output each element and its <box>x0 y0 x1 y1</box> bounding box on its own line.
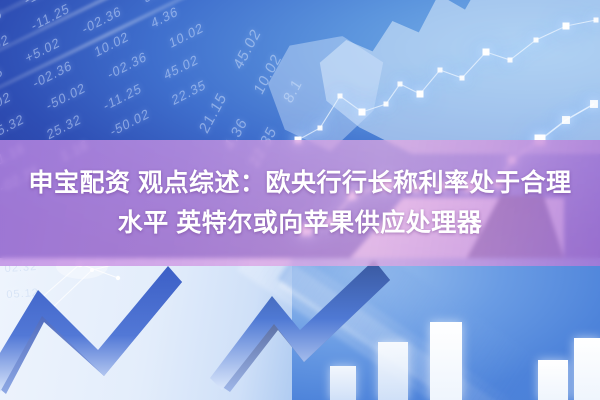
chart-node <box>483 49 490 56</box>
banner-image: -50.02-02.36-11.25+5.0221.15 -02.36-50.0… <box>0 0 600 400</box>
chart-node <box>562 116 570 124</box>
headline-line-1: 申宝配资 观点综述：欧央行行长称利率处于合理 <box>29 163 572 203</box>
bottom-arrow-scene: 02.32 05.12 <box>0 258 600 400</box>
chart-node <box>507 57 512 62</box>
chart-node <box>533 37 538 42</box>
chart-node-group-upper <box>295 17 599 143</box>
chart-node <box>459 75 464 80</box>
chart-line-upper <box>298 20 596 140</box>
headline-line-2: 水平 英特尔或向苹果供应处理器 <box>118 203 482 243</box>
chart-node <box>417 91 424 98</box>
chart-node <box>437 67 442 72</box>
bar-3 <box>430 322 462 400</box>
bar-4 <box>538 360 568 400</box>
bar-5 <box>574 338 600 400</box>
chart-node <box>359 109 366 116</box>
chart-node <box>590 100 598 108</box>
chart-node <box>593 17 598 22</box>
chart-node <box>383 101 388 106</box>
chart-node <box>397 81 402 86</box>
bar-1 <box>330 366 356 400</box>
headline-overlay-band: 申宝配资 观点综述：欧央行行长称利率处于合理 水平 英特尔或向苹果供应处理器 <box>0 140 600 266</box>
chart-node <box>317 125 322 130</box>
bar-2 <box>378 342 408 400</box>
chart-node <box>563 23 570 30</box>
chart-node <box>337 93 342 98</box>
